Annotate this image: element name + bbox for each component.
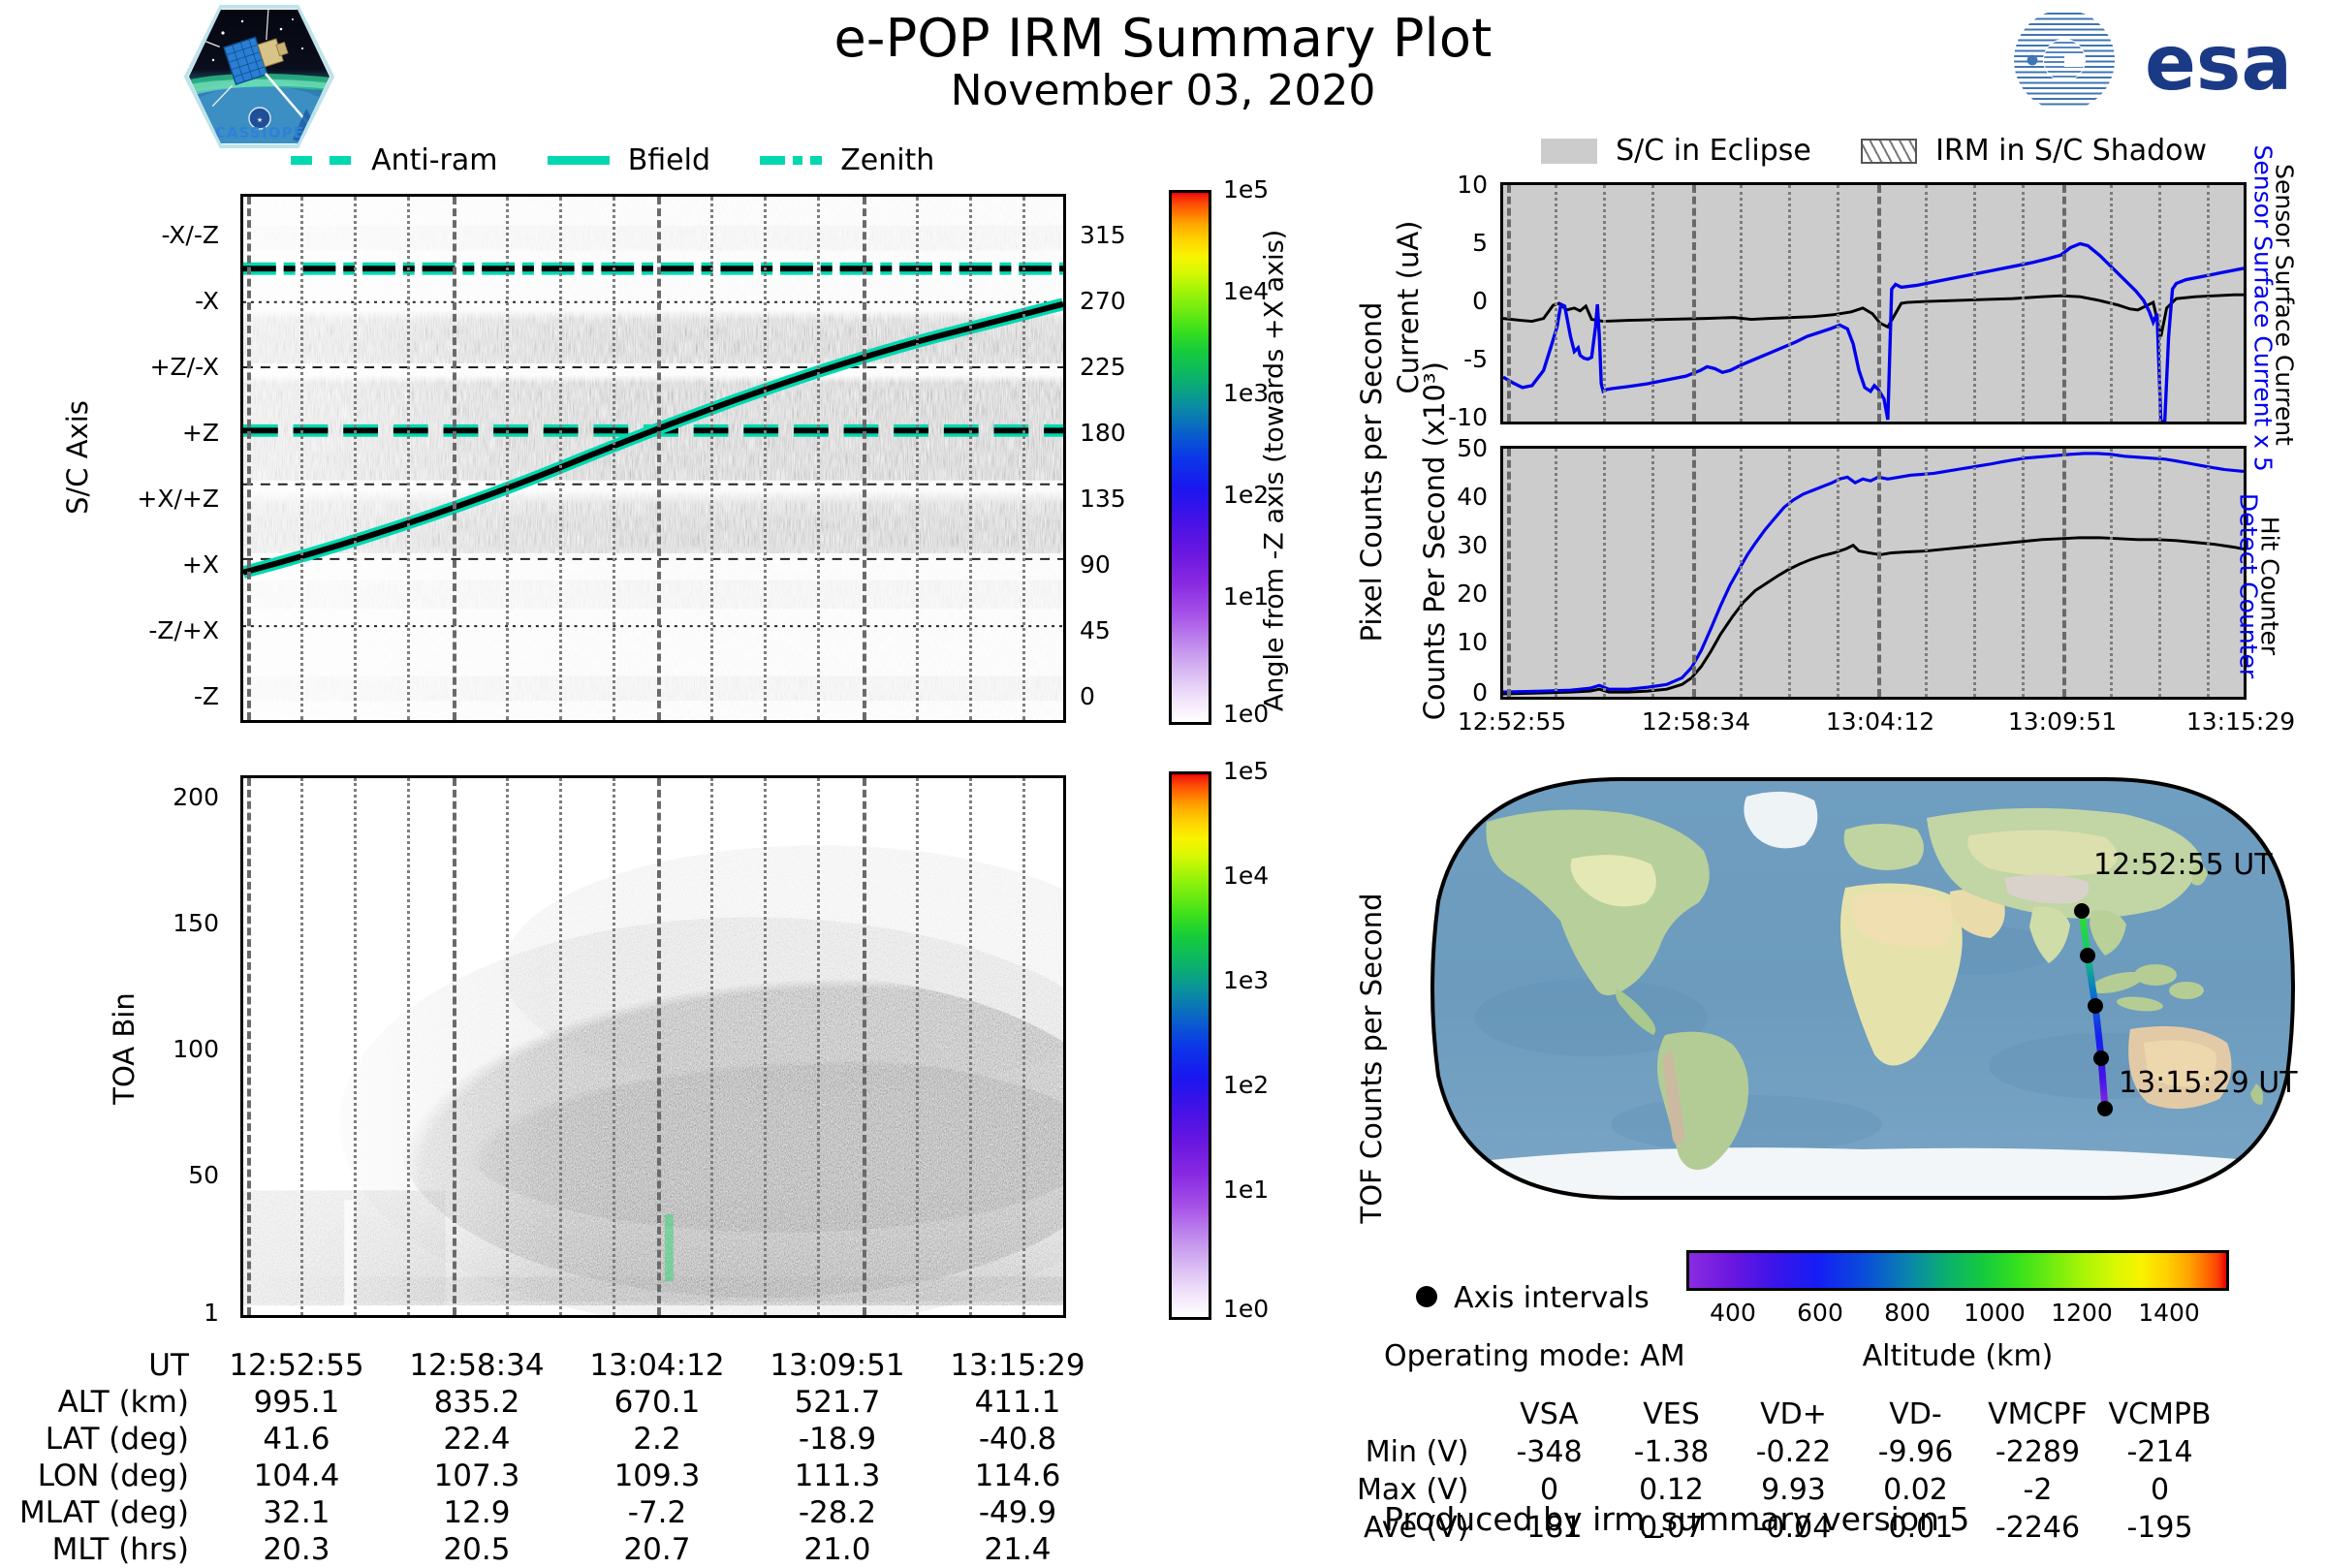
alt-tick-4: 1200 bbox=[2043, 1299, 2121, 1327]
eph-cell-4-0: 32.1 bbox=[206, 1494, 387, 1531]
toa-ytick-1: 150 bbox=[145, 909, 219, 937]
eph-cell-2-0: 41.6 bbox=[206, 1421, 387, 1458]
eph-cell-5-2: 20.7 bbox=[567, 1531, 747, 1568]
table-row: MLT (hrs) 20.3 20.5 20.7 21.0 21.4 bbox=[19, 1531, 1108, 1568]
esa-logo: esa bbox=[1972, 8, 2311, 112]
angle-spectrogram-plot bbox=[240, 194, 1066, 723]
angle-ytick-2: +Z/-X bbox=[97, 353, 219, 381]
eph-cell-0-4: 13:15:29 bbox=[927, 1347, 1108, 1384]
alt-tick-5: 1400 bbox=[2130, 1299, 2208, 1327]
rt-tick-3: 13:09:51 bbox=[1975, 707, 2150, 736]
current-traces bbox=[1503, 185, 2244, 422]
tcb-tick-4: 1e1 bbox=[1223, 1176, 1269, 1204]
eph-cell-0-2: 13:04:12 bbox=[567, 1347, 747, 1384]
counts-yaxis-label: Counts Per Second (x10³) bbox=[1420, 429, 1449, 720]
pixel-counts-colorbar-label: Pixel Counts per Second bbox=[1355, 230, 1388, 714]
eph-cell-0-1: 12:58:34 bbox=[387, 1347, 567, 1384]
legend-left: Anti-ram Bfield Zenith bbox=[291, 143, 1027, 177]
table-row: MLAT (deg) 32.1 12.9 -7.2 -28.2 -49.9 bbox=[19, 1494, 1108, 1531]
volt-col-0: VSA bbox=[1489, 1396, 1611, 1433]
detect-counter-trace bbox=[1503, 454, 2244, 692]
current-ytick-2: 0 bbox=[1420, 287, 1488, 315]
eph-cell-1-2: 670.1 bbox=[567, 1384, 747, 1421]
volt-cell-0-2: -0.22 bbox=[1733, 1433, 1855, 1471]
toa-ytick-0: 200 bbox=[145, 783, 219, 811]
eph-row-label-5: MLT (hrs) bbox=[19, 1531, 206, 1568]
axis-intervals-label: Axis intervals bbox=[1454, 1281, 1650, 1315]
table-row: LAT (deg) 41.6 22.4 2.2 -18.9 -40.8 bbox=[19, 1421, 1108, 1458]
eph-cell-2-3: -18.9 bbox=[747, 1421, 927, 1458]
eph-cell-3-1: 107.3 bbox=[387, 1458, 567, 1494]
table-row: UT 12:52:55 12:58:34 13:04:12 13:09:51 1… bbox=[19, 1347, 1108, 1384]
tcb-tick-1: 1e4 bbox=[1223, 862, 1269, 890]
alt-tick-1: 600 bbox=[1781, 1299, 1859, 1327]
angle-ytick-right-7: 0 bbox=[1080, 682, 1147, 710]
volt-col-1: VES bbox=[1611, 1396, 1733, 1433]
table-row: Min (V) -348 -1.38 -0.22 -9.96 -2289 -21… bbox=[1357, 1433, 2221, 1471]
operating-mode-label: Operating mode: AM bbox=[1384, 1339, 1685, 1373]
pcb-tick-4: 1e1 bbox=[1223, 582, 1269, 611]
legend-item-zenith: Zenith bbox=[760, 150, 979, 169]
volt-col-2: VD+ bbox=[1733, 1396, 1855, 1433]
hit-counter-trace bbox=[1503, 538, 2244, 694]
angle-ytick-3: +Z bbox=[97, 419, 219, 447]
tof-counts-colorbar-label: TOF Counts per Second bbox=[1355, 816, 1388, 1301]
eph-row-label-3: LON (deg) bbox=[19, 1458, 206, 1494]
alt-tick-2: 800 bbox=[1869, 1299, 1946, 1327]
eph-row-label-4: MLAT (deg) bbox=[19, 1494, 206, 1531]
cassiope-mission-patch: ★ CASSIOPE bbox=[184, 4, 334, 149]
current-ytick-0: 10 bbox=[1420, 171, 1488, 199]
toa-spectrogram-image bbox=[243, 778, 1063, 1315]
toa-yaxis-label: TOA Bin bbox=[108, 952, 141, 1145]
angle-ytick-5: +X bbox=[97, 550, 219, 579]
eph-cell-4-4: -49.9 bbox=[927, 1494, 1108, 1531]
eph-cell-4-3: -28.2 bbox=[747, 1494, 927, 1531]
toa-ytick-3: 50 bbox=[145, 1161, 219, 1189]
tcb-tick-0: 1e5 bbox=[1223, 757, 1269, 785]
eph-cell-4-1: 12.9 bbox=[387, 1494, 567, 1531]
eph-cell-5-3: 21.0 bbox=[747, 1531, 927, 1568]
legend-label-anti-ram: Anti-ram bbox=[371, 143, 497, 177]
eph-cell-0-3: 13:09:51 bbox=[747, 1347, 927, 1384]
eph-cell-1-0: 995.1 bbox=[206, 1384, 387, 1421]
solid-line-swatch bbox=[548, 156, 610, 165]
angle-ytick-1: -X bbox=[97, 287, 219, 315]
eph-row-label-1: ALT (km) bbox=[19, 1384, 206, 1421]
eph-cell-3-4: 114.6 bbox=[927, 1458, 1108, 1494]
alt-tick-0: 400 bbox=[1694, 1299, 1772, 1327]
dash-dot-line-swatch bbox=[760, 156, 822, 165]
current-timeseries-plot bbox=[1500, 182, 2247, 424]
legend-label-bfield: Bfield bbox=[628, 143, 710, 177]
eph-cell-5-0: 20.3 bbox=[206, 1531, 387, 1568]
angle-ytick-6: -Z/+X bbox=[97, 616, 219, 644]
table-header-row: VSA VES VD+ VD- VMCPF VCMPB bbox=[1357, 1396, 2221, 1433]
eph-row-label-2: LAT (deg) bbox=[19, 1421, 206, 1458]
legend-label-zenith: Zenith bbox=[840, 143, 934, 177]
legend-label-shadow: IRM in S/C Shadow bbox=[1935, 134, 2207, 168]
pixel-counts-colorbar bbox=[1169, 190, 1211, 725]
angle-ytick-right-5: 90 bbox=[1080, 550, 1147, 579]
volt-cell-0-0: -348 bbox=[1489, 1433, 1611, 1471]
counts-timeseries-plot bbox=[1500, 446, 2247, 700]
angle-ytick-right-3: 180 bbox=[1080, 419, 1147, 447]
rt-tick-2: 13:04:12 bbox=[1793, 707, 1967, 736]
axis-interval-dot-icon bbox=[1407, 1277, 1446, 1316]
svg-text:★: ★ bbox=[257, 116, 263, 124]
eph-cell-2-4: -40.8 bbox=[927, 1421, 1108, 1458]
legend-item-eclipse: S/C in Eclipse bbox=[1541, 141, 1861, 159]
volt-col-4: VMCPF bbox=[1977, 1396, 2099, 1433]
patch-label: CASSIOPE bbox=[215, 124, 305, 141]
angle-ytick-right-1: 270 bbox=[1080, 287, 1147, 315]
eph-cell-1-3: 521.7 bbox=[747, 1384, 927, 1421]
legend-item-anti-ram: Anti-ram bbox=[291, 150, 548, 169]
angle-spectrogram-image bbox=[243, 197, 1063, 720]
legend-item-shadow: IRM in S/C Shadow bbox=[1861, 141, 2251, 159]
alt-tick-3: 1000 bbox=[1956, 1299, 2033, 1327]
volt-cell-0-4: -2289 bbox=[1977, 1433, 2099, 1471]
ephemeris-table: UT 12:52:55 12:58:34 13:04:12 13:09:51 1… bbox=[19, 1347, 1108, 1568]
map-end-time-label: 13:15:29 UT bbox=[2119, 1066, 2298, 1100]
sensor-surface-current-x5-trace bbox=[1503, 244, 2244, 422]
tcb-tick-5: 1e0 bbox=[1223, 1295, 1269, 1323]
altitude-colorbar bbox=[1686, 1250, 2229, 1291]
counts-right-label-black: Hit Counter bbox=[2256, 441, 2284, 732]
eph-cell-0-0: 12:52:55 bbox=[206, 1347, 387, 1384]
current-right-label-black: Sensor Surface Current bbox=[2271, 145, 2299, 465]
sensor-surface-current-trace bbox=[1503, 295, 2244, 336]
altitude-colorbar-label: Altitude (km) bbox=[1686, 1339, 2229, 1373]
map-start-time-label: 12:52:55 UT bbox=[2093, 848, 2273, 882]
angle-ytick-right-6: 45 bbox=[1080, 616, 1147, 644]
toa-spectrogram-plot bbox=[240, 775, 1066, 1318]
current-ytick-1: 5 bbox=[1420, 229, 1488, 257]
counts-traces bbox=[1503, 449, 2244, 697]
volt-cell-0-1: -1.38 bbox=[1611, 1433, 1733, 1471]
angle-ytick-right-0: 315 bbox=[1080, 221, 1147, 249]
rt-tick-0: 12:52:55 bbox=[1425, 707, 1599, 736]
eph-cell-2-2: 2.2 bbox=[567, 1421, 747, 1458]
shadow-hatch-swatch bbox=[1861, 139, 1917, 164]
eph-cell-3-3: 111.3 bbox=[747, 1458, 927, 1494]
legend-item-bfield: Bfield bbox=[548, 150, 761, 169]
pcb-tick-3: 1e2 bbox=[1223, 481, 1269, 509]
rt-tick-1: 12:58:34 bbox=[1609, 707, 1783, 736]
eph-cell-4-2: -7.2 bbox=[567, 1494, 747, 1531]
volt-cell-0-3: -9.96 bbox=[1855, 1433, 1977, 1471]
rt-tick-4: 13:15:29 bbox=[2153, 707, 2326, 736]
legend-label-eclipse: S/C in Eclipse bbox=[1616, 134, 1811, 168]
tcb-tick-3: 1e2 bbox=[1223, 1071, 1269, 1099]
angle-ytick-0: -X/-Z bbox=[97, 221, 219, 249]
legend-right: S/C in Eclipse IRM in S/C Shadow bbox=[1541, 134, 2251, 168]
eclipse-fill-swatch bbox=[1541, 139, 1597, 164]
volt-col-5: VCMPB bbox=[2099, 1396, 2221, 1433]
table-row: ALT (km) 995.1 835.2 670.1 521.7 411.1 bbox=[19, 1384, 1108, 1421]
angle-ytick-4: +X/+Z bbox=[97, 485, 219, 513]
pcb-tick-2: 1e3 bbox=[1223, 379, 1269, 407]
eph-cell-5-4: 21.4 bbox=[927, 1531, 1108, 1568]
volt-cell-2-5: -195 bbox=[2099, 1509, 2221, 1547]
pcb-tick-0: 1e5 bbox=[1223, 175, 1269, 204]
volt-cell-1-4: -2 bbox=[1977, 1471, 2099, 1509]
tof-counts-colorbar bbox=[1169, 771, 1211, 1320]
produced-by-label: Produced by irm_summary version 5 bbox=[1384, 1500, 1969, 1538]
eph-cell-5-1: 20.5 bbox=[387, 1531, 567, 1568]
volt-cell-2-4: -2246 bbox=[1977, 1509, 2099, 1547]
ground-track-map bbox=[1427, 775, 2299, 1202]
toa-ytick-2: 100 bbox=[145, 1035, 219, 1063]
eph-row-label-0: UT bbox=[19, 1347, 206, 1384]
tcb-tick-2: 1e3 bbox=[1223, 966, 1269, 994]
pcb-tick-5: 1e0 bbox=[1223, 700, 1269, 728]
angle-ytick-right-2: 225 bbox=[1080, 353, 1147, 381]
volt-col-3: VD- bbox=[1855, 1396, 1977, 1433]
angle-ytick-right-4: 135 bbox=[1080, 485, 1147, 513]
volt-cell-0-5: -214 bbox=[2099, 1433, 2221, 1471]
esa-wordmark: esa bbox=[2145, 20, 2292, 108]
table-row: LON (deg) 104.4 107.3 109.3 111.3 114.6 bbox=[19, 1458, 1108, 1494]
eph-cell-3-2: 109.3 bbox=[567, 1458, 747, 1494]
dashed-line-swatch bbox=[291, 156, 353, 165]
pcb-tick-1: 1e4 bbox=[1223, 277, 1269, 305]
eph-cell-1-4: 411.1 bbox=[927, 1384, 1108, 1421]
volt-row-label-0: Min (V) bbox=[1357, 1433, 1489, 1471]
angle-yaxis-label: S/C Axis bbox=[61, 361, 94, 554]
angle-ytick-7: -Z bbox=[97, 682, 219, 710]
eph-cell-2-1: 22.4 bbox=[387, 1421, 567, 1458]
toa-ytick-4: 1 bbox=[145, 1299, 219, 1327]
eph-cell-1-1: 835.2 bbox=[387, 1384, 567, 1421]
eph-cell-3-0: 104.4 bbox=[206, 1458, 387, 1494]
volt-cell-1-5: 0 bbox=[2099, 1471, 2221, 1509]
